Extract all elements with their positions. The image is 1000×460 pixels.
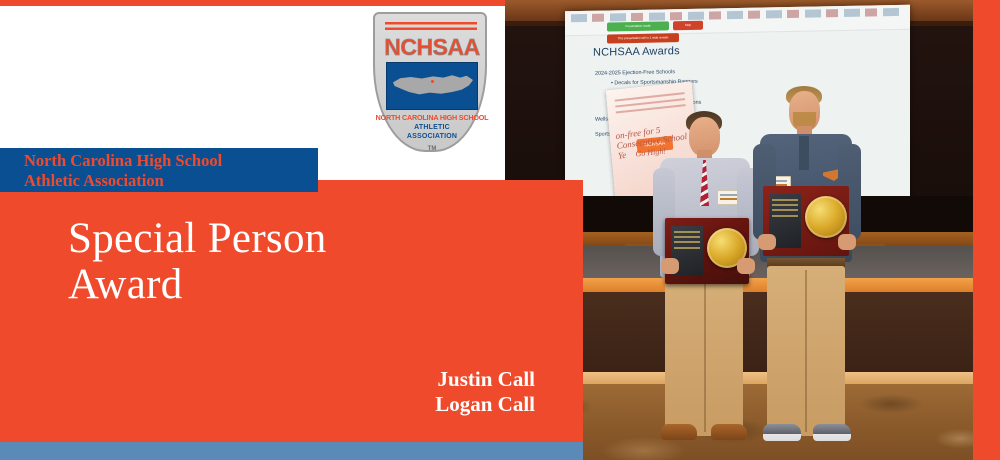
award-title-line-1: Special Person (68, 215, 327, 262)
logo-tagline-association: ASSOCIATION (407, 133, 457, 140)
shield-stripes (385, 22, 477, 33)
person-left-hand-right (737, 258, 755, 274)
nchsaa-logo: NCHSAA NORTH CAROLINA HIGH SCHOOL ATHLET… (355, 6, 505, 158)
person-right-polo-placket (799, 136, 809, 170)
bottom-blue-bar (0, 442, 583, 460)
person-right-hand-left (758, 234, 776, 250)
recipient-2: Logan Call (435, 392, 535, 416)
photo-right-orange-border (973, 0, 1000, 460)
person-left-shoe-right (711, 424, 747, 440)
person-right-shoe-left (763, 424, 801, 441)
chrome-pill-green: Presentation mode (607, 21, 669, 31)
page-title: Special Person Award (68, 216, 488, 308)
chrome-toolbar-lines (571, 8, 904, 22)
north-carolina-map-icon (393, 71, 473, 101)
person-left-hand-left (661, 258, 679, 274)
person-right-shoe-right (813, 424, 851, 441)
logo-tagline-athletic: ATHLETIC (414, 124, 450, 131)
person-left-shoe-left (661, 424, 697, 440)
person-right-pants-crease (805, 270, 807, 432)
recipient-1: Justin Call (438, 367, 535, 391)
person-right-hand-right (838, 234, 856, 250)
shield-blue-panel (386, 62, 478, 110)
org-name-line-2: Athletic Association (24, 171, 164, 190)
organization-name: North Carolina High School Athletic Asso… (24, 151, 314, 191)
shield-icon: NCHSAA NORTH CAROLINA HIGH SCHOOL ATHLET… (373, 12, 487, 152)
award-title-line-2: Award (68, 261, 183, 308)
poster-script-line-2: Go High! (635, 146, 666, 158)
slide-title: NCHSAA Awards (593, 45, 680, 59)
trademark-mark: TM (375, 146, 489, 152)
recipient-names: Justin Call Logan Call (180, 367, 583, 417)
chrome-pill-notice: This presentation will in 1 slide remain (607, 33, 679, 43)
person-right-plaque-medallion (805, 196, 847, 238)
screen-browser-chrome (565, 5, 910, 37)
org-name-line-1: North Carolina High School (24, 151, 222, 170)
logo-tagline-1: NORTH CAROLINA HIGH SCHOOL (375, 113, 489, 122)
chrome-pill-red: Stop (673, 21, 703, 31)
map-marker-icon (431, 80, 434, 83)
person-left-pants-crease (704, 276, 706, 432)
award-slide: Presentation mode Stop This presentation… (0, 0, 1000, 460)
logo-tagline-2: ATHLETIC ASSOCIATION (375, 124, 489, 142)
logo-wordmark: NCHSAA (375, 34, 489, 61)
